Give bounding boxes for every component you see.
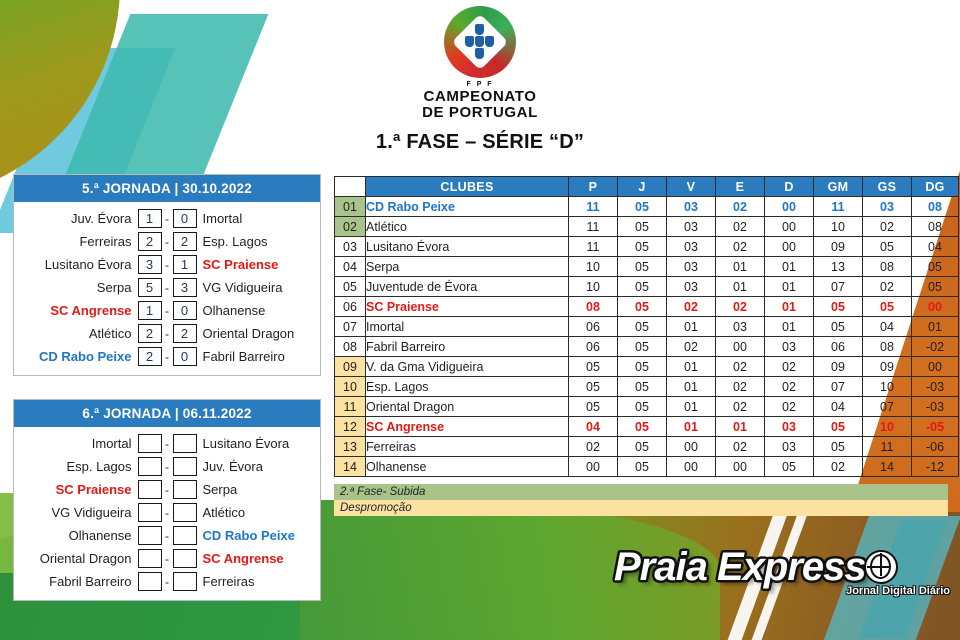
fixture-away-team: Esp. Lagos xyxy=(197,234,311,249)
standings-cell-gs: 10 xyxy=(863,377,912,397)
standings-cell-gs: 02 xyxy=(863,217,912,237)
fixture-away-score[interactable]: 0 xyxy=(173,209,197,228)
fpf-crest-icon xyxy=(444,6,516,78)
standings-position: 09 xyxy=(335,357,366,377)
standings-row: 01CD Rabo Peixe1105030200110308 xyxy=(335,197,959,217)
standings-col-d: D xyxy=(765,177,814,197)
standings-position: 02 xyxy=(335,217,366,237)
standings-position: 07 xyxy=(335,317,366,337)
score-separator: - xyxy=(162,258,173,272)
standings-cell-j: 05 xyxy=(618,197,667,217)
fixtures-title-jornada-6: 6.ª JORNADA | 06.11.2022 xyxy=(14,400,320,427)
standings-cell-gm: 07 xyxy=(814,277,863,297)
standings-cell-gm: 07 xyxy=(814,377,863,397)
standings-cell-e: 01 xyxy=(716,417,765,437)
score-separator: - xyxy=(162,506,173,520)
score-separator: - xyxy=(162,460,173,474)
standings-cell-j: 05 xyxy=(618,397,667,417)
standings-cell-gm: 05 xyxy=(814,417,863,437)
standings-cell-d: 01 xyxy=(765,277,814,297)
standings-cell-gs: 05 xyxy=(863,237,912,257)
standings-cell-p: 00 xyxy=(569,457,618,477)
standings-head: CLUBESPJVEDGMGSDG xyxy=(335,177,959,197)
fixture-home-score[interactable]: 3 xyxy=(138,255,162,274)
fixture-home-team: Serpa xyxy=(24,280,138,295)
legend-promotion: 2.ª Fase- Subida xyxy=(334,484,948,500)
standings-position: 08 xyxy=(335,337,366,357)
standings-cell-j: 05 xyxy=(618,277,667,297)
standings-cell-gm: 09 xyxy=(814,237,863,257)
fixture-home-score[interactable] xyxy=(138,572,162,591)
praia-express-logo: Praia Express Jornal Digital Diário xyxy=(614,545,954,615)
standings-table: CLUBESPJVEDGMGSDG 01CD Rabo Peixe1105030… xyxy=(334,176,959,477)
standings-cell-v: 01 xyxy=(667,417,716,437)
fixture-row: Ferreiras2-2Esp. Lagos xyxy=(24,230,310,253)
standings-cell-dg: 00 xyxy=(912,297,959,317)
fixture-home-score[interactable]: 2 xyxy=(138,232,162,251)
standings-row: 10Esp. Lagos05050102020710-03 xyxy=(335,377,959,397)
standings-cell-v: 03 xyxy=(667,257,716,277)
fixture-home-score[interactable] xyxy=(138,434,162,453)
fixture-row: Juv. Évora1-0Imortal xyxy=(24,207,310,230)
brand-name-text: Praia Express xyxy=(614,545,866,589)
poster-canvas: F P F CAMPEONATO DE PORTUGAL 1.ª FASE – … xyxy=(0,0,960,640)
standings-row: 03Lusitano Évora1105030200090504 xyxy=(335,237,959,257)
standings-club-name: CD Rabo Peixe xyxy=(366,197,569,217)
standings-col-v: V xyxy=(667,177,716,197)
standings-cell-v: 00 xyxy=(667,457,716,477)
standings-row: 14Olhanense00050000050214-12 xyxy=(335,457,959,477)
standings-cell-v: 02 xyxy=(667,297,716,317)
standings-club-name: Juventude de Évora xyxy=(366,277,569,297)
standings-cell-gm: 05 xyxy=(814,437,863,457)
standings-cell-e: 00 xyxy=(716,337,765,357)
fixtures-title-jornada-5: 5.ª JORNADA | 30.10.2022 xyxy=(14,175,320,202)
standings-cell-j: 05 xyxy=(618,437,667,457)
standings-club-name: V. da Gma Vidigueira xyxy=(366,357,569,377)
standings-cell-gs: 11 xyxy=(863,437,912,457)
fixture-row: Imortal-Lusitano Évora xyxy=(24,432,310,455)
standings-cell-v: 01 xyxy=(667,357,716,377)
standings-cell-dg: 01 xyxy=(912,317,959,337)
fixture-home-team: Olhanense xyxy=(24,528,138,543)
standings-club-name: Ferreiras xyxy=(366,437,569,457)
standings-position: 12 xyxy=(335,417,366,437)
standings-position: 11 xyxy=(335,397,366,417)
standings-club-name: Esp. Lagos xyxy=(366,377,569,397)
fixture-home-score[interactable] xyxy=(138,457,162,476)
standings-cell-j: 05 xyxy=(618,357,667,377)
standings-cell-d: 01 xyxy=(765,257,814,277)
standings-cell-dg: 04 xyxy=(912,237,959,257)
fixture-away-score[interactable]: 1 xyxy=(173,255,197,274)
fixture-home-score[interactable] xyxy=(138,480,162,499)
standings-cell-d: 02 xyxy=(765,377,814,397)
standings-cell-dg: -05 xyxy=(912,417,959,437)
standings-cell-gs: 10 xyxy=(863,417,912,437)
fixture-away-score[interactable] xyxy=(173,549,197,568)
fixtures-list-jornada-6: Imortal-Lusitano ÉvoraEsp. Lagos-Juv. Év… xyxy=(14,427,320,600)
standings-col-dg: DG xyxy=(912,177,959,197)
standings-cell-gm: 05 xyxy=(814,317,863,337)
fixture-row: SC Angrense1-0Olhanense xyxy=(24,299,310,322)
fixture-home-score[interactable]: 1 xyxy=(138,209,162,228)
portugal-shields-icon xyxy=(462,24,498,60)
fixture-away-score[interactable]: 3 xyxy=(173,278,197,297)
championship-line-2: DE PORTUGAL xyxy=(0,105,960,121)
fixture-home-score[interactable] xyxy=(138,549,162,568)
standings-cell-dg: 00 xyxy=(912,357,959,377)
standings-cell-p: 06 xyxy=(569,317,618,337)
standings-cell-d: 03 xyxy=(765,417,814,437)
fixture-away-score[interactable] xyxy=(173,480,197,499)
standings-cell-d: 00 xyxy=(765,237,814,257)
standings-row: 09V. da Gma Vidigueira0505010202090900 xyxy=(335,357,959,377)
standings-cell-e: 01 xyxy=(716,257,765,277)
brand-name: Praia Express xyxy=(614,545,954,589)
standings-cell-p: 11 xyxy=(569,237,618,257)
standings-club-name: Fabril Barreiro xyxy=(366,337,569,357)
standings-cell-d: 02 xyxy=(765,397,814,417)
standings-col-p: P xyxy=(569,177,618,197)
standings-cell-gm: 11 xyxy=(814,197,863,217)
standings-club-name: Oriental Dragon xyxy=(366,397,569,417)
standings-position: 01 xyxy=(335,197,366,217)
standings-cell-p: 10 xyxy=(569,257,618,277)
fixture-away-score[interactable]: 2 xyxy=(173,324,197,343)
fixture-away-score[interactable] xyxy=(173,526,197,545)
standings-cell-v: 03 xyxy=(667,197,716,217)
championship-line-1: CAMPEONATO xyxy=(0,89,960,105)
standings-row: 06SC Praiense0805020201050500 xyxy=(335,297,959,317)
page-title: 1.ª FASE – SÉRIE “D” xyxy=(0,131,960,154)
score-separator: - xyxy=(162,437,173,451)
standings-cell-gs: 02 xyxy=(863,277,912,297)
standings-row: 11Oriental Dragon05050102020407-03 xyxy=(335,397,959,417)
standings-table-wrapper: CLUBESPJVEDGMGSDG 01CD Rabo Peixe1105030… xyxy=(334,176,948,477)
fixture-row: Serpa5-3VG Vidigueira xyxy=(24,276,310,299)
standings-cell-gs: 08 xyxy=(863,337,912,357)
fixture-away-team: Serpa xyxy=(197,482,311,497)
standings-position: 10 xyxy=(335,377,366,397)
fixture-home-team: CD Rabo Peixe xyxy=(24,349,138,364)
poster-header: F P F CAMPEONATO DE PORTUGAL 1.ª FASE – … xyxy=(0,0,960,154)
standings-cell-d: 02 xyxy=(765,357,814,377)
fixtures-panel-jornada-5: 5.ª JORNADA | 30.10.2022 Juv. Évora1-0Im… xyxy=(13,174,321,376)
standings-col-gs: GS xyxy=(863,177,912,197)
standings-cell-gm: 10 xyxy=(814,217,863,237)
standings-col-e: E xyxy=(716,177,765,197)
standings-row: 04Serpa1005030101130805 xyxy=(335,257,959,277)
standings-cell-gm: 13 xyxy=(814,257,863,277)
standings-body: 01CD Rabo Peixe110503020011030802Atlétic… xyxy=(335,197,959,477)
standings-cell-dg: 08 xyxy=(912,197,959,217)
fixture-home-score[interactable] xyxy=(138,526,162,545)
standings-cell-gs: 14 xyxy=(863,457,912,477)
standings-cell-e: 03 xyxy=(716,317,765,337)
standings-cell-j: 05 xyxy=(618,317,667,337)
standings-cell-d: 00 xyxy=(765,197,814,217)
globe-icon xyxy=(864,550,898,584)
fixture-away-team: Juv. Évora xyxy=(197,459,311,474)
fixture-away-score[interactable] xyxy=(173,572,197,591)
standings-cell-v: 03 xyxy=(667,237,716,257)
standings-cell-dg: 08 xyxy=(912,217,959,237)
standings-col-clubes: CLUBES xyxy=(366,177,569,197)
standings-cell-dg: 05 xyxy=(912,277,959,297)
score-separator: - xyxy=(162,529,173,543)
fixture-away-team: Ferreiras xyxy=(197,574,311,589)
fixture-away-score[interactable]: 0 xyxy=(173,301,197,320)
score-separator: - xyxy=(162,483,173,497)
standings-cell-gm: 04 xyxy=(814,397,863,417)
fixture-home-score[interactable]: 5 xyxy=(138,278,162,297)
standings-cell-e: 02 xyxy=(716,197,765,217)
fixture-away-team: SC Angrense xyxy=(197,551,311,566)
score-separator: - xyxy=(162,350,173,364)
standings-cell-gm: 09 xyxy=(814,357,863,377)
standings-cell-gs: 08 xyxy=(863,257,912,277)
fixture-away-team: Oriental Dragon xyxy=(197,326,311,341)
score-separator: - xyxy=(162,327,173,341)
standings-row: 02Atlético1105030200100208 xyxy=(335,217,959,237)
fixture-home-team: Atlético xyxy=(24,326,138,341)
standings-cell-v: 00 xyxy=(667,437,716,457)
fixture-home-team: Juv. Évora xyxy=(24,211,138,226)
standings-col-gm: GM xyxy=(814,177,863,197)
standings-position: 06 xyxy=(335,297,366,317)
fixtures-panel-jornada-6: 6.ª JORNADA | 06.11.2022 Imortal-Lusitan… xyxy=(13,399,321,601)
fixture-row: Oriental Dragon-SC Angrense xyxy=(24,547,310,570)
standings-cell-d: 05 xyxy=(765,457,814,477)
standings-cell-dg: -03 xyxy=(912,397,959,417)
standings-cell-dg: -06 xyxy=(912,437,959,457)
fixture-row: SC Praiense-Serpa xyxy=(24,478,310,501)
fixture-row: VG Vidigueira-Atlético xyxy=(24,501,310,524)
standings-cell-d: 03 xyxy=(765,337,814,357)
fixture-home-team: SC Praiense xyxy=(24,482,138,497)
standings-cell-p: 05 xyxy=(569,397,618,417)
standings-cell-e: 02 xyxy=(716,377,765,397)
standings-cell-gm: 02 xyxy=(814,457,863,477)
fixture-away-team: VG Vidigueira xyxy=(197,280,311,295)
standings-club-name: Serpa xyxy=(366,257,569,277)
standings-club-name: Olhanense xyxy=(366,457,569,477)
standings-cell-e: 02 xyxy=(716,397,765,417)
fixture-away-team: CD Rabo Peixe xyxy=(197,528,311,543)
standings-cell-e: 02 xyxy=(716,437,765,457)
standings-cell-e: 00 xyxy=(716,457,765,477)
standings-position: 13 xyxy=(335,437,366,457)
standings-cell-j: 05 xyxy=(618,297,667,317)
standings-club-name: SC Praiense xyxy=(366,297,569,317)
standings-cell-j: 05 xyxy=(618,377,667,397)
standings-cell-d: 01 xyxy=(765,317,814,337)
standings-cell-v: 03 xyxy=(667,217,716,237)
standings-row: 13Ferreiras02050002030511-06 xyxy=(335,437,959,457)
standings-position: 04 xyxy=(335,257,366,277)
standings-cell-p: 04 xyxy=(569,417,618,437)
standings-col-j: J xyxy=(618,177,667,197)
fixture-away-team: Fabril Barreiro xyxy=(197,349,311,364)
standings-cell-p: 11 xyxy=(569,197,618,217)
fixture-row: Lusitano Évora3-1SC Praiense xyxy=(24,253,310,276)
standings-row: 05Juventude de Évora1005030101070205 xyxy=(335,277,959,297)
fixture-away-score[interactable]: 0 xyxy=(173,347,197,366)
standings-cell-j: 05 xyxy=(618,337,667,357)
standings-cell-d: 00 xyxy=(765,217,814,237)
standings-cell-dg: -02 xyxy=(912,337,959,357)
score-separator: - xyxy=(162,552,173,566)
standings-cell-gs: 05 xyxy=(863,297,912,317)
fixture-home-team: SC Angrense xyxy=(24,303,138,318)
fixture-home-team: Esp. Lagos xyxy=(24,459,138,474)
legend: 2.ª Fase- Subida Despromoção xyxy=(334,484,948,516)
standings-row: 07Imortal0605010301050401 xyxy=(335,317,959,337)
fixtures-list-jornada-5: Juv. Évora1-0ImortalFerreiras2-2Esp. Lag… xyxy=(14,202,320,375)
standings-cell-gs: 09 xyxy=(863,357,912,377)
standings-cell-p: 08 xyxy=(569,297,618,317)
standings-cell-gm: 05 xyxy=(814,297,863,317)
fixture-away-team: Lusitano Évora xyxy=(197,436,311,451)
standings-cell-v: 02 xyxy=(667,337,716,357)
standings-cell-v: 01 xyxy=(667,377,716,397)
standings-position: 14 xyxy=(335,457,366,477)
standings-position: 03 xyxy=(335,237,366,257)
fixture-away-score[interactable] xyxy=(173,457,197,476)
score-separator: - xyxy=(162,212,173,226)
standings-cell-e: 02 xyxy=(716,297,765,317)
score-separator: - xyxy=(162,304,173,318)
standings-club-name: Atlético xyxy=(366,217,569,237)
standings-cell-j: 05 xyxy=(618,257,667,277)
fixture-row: Olhanense-CD Rabo Peixe xyxy=(24,524,310,547)
standings-cell-p: 10 xyxy=(569,277,618,297)
standings-cell-j: 05 xyxy=(618,237,667,257)
standings-cell-p: 02 xyxy=(569,437,618,457)
fixture-home-score[interactable] xyxy=(138,503,162,522)
standings-row: 12SC Angrense04050101030510-05 xyxy=(335,417,959,437)
standings-cell-p: 06 xyxy=(569,337,618,357)
standings-position: 05 xyxy=(335,277,366,297)
fixture-away-team: SC Praiense xyxy=(197,257,311,272)
fixture-away-score[interactable]: 2 xyxy=(173,232,197,251)
standings-cell-v: 03 xyxy=(667,277,716,297)
standings-cell-e: 02 xyxy=(716,357,765,377)
standings-cell-v: 01 xyxy=(667,397,716,417)
standings-cell-v: 01 xyxy=(667,317,716,337)
standings-cell-d: 03 xyxy=(765,437,814,457)
fixture-home-team: VG Vidigueira xyxy=(24,505,138,520)
score-separator: - xyxy=(162,281,173,295)
fixture-home-team: Fabril Barreiro xyxy=(24,574,138,589)
standings-cell-e: 01 xyxy=(716,277,765,297)
standings-cell-dg: 05 xyxy=(912,257,959,277)
standings-cell-gs: 07 xyxy=(863,397,912,417)
standings-position-header xyxy=(335,177,366,197)
standings-club-name: Lusitano Évora xyxy=(366,237,569,257)
standings-cell-p: 05 xyxy=(569,357,618,377)
standings-cell-e: 02 xyxy=(716,237,765,257)
standings-cell-e: 02 xyxy=(716,217,765,237)
standings-cell-gm: 06 xyxy=(814,337,863,357)
fixture-row: Fabril Barreiro-Ferreiras xyxy=(24,570,310,593)
standings-cell-j: 05 xyxy=(618,217,667,237)
standings-cell-p: 11 xyxy=(569,217,618,237)
standings-cell-p: 05 xyxy=(569,377,618,397)
fixture-home-score[interactable]: 2 xyxy=(138,347,162,366)
fixture-row: CD Rabo Peixe2-0Fabril Barreiro xyxy=(24,345,310,368)
standings-cell-d: 01 xyxy=(765,297,814,317)
fixture-home-team: Lusitano Évora xyxy=(24,257,138,272)
standings-cell-j: 05 xyxy=(618,457,667,477)
fixture-home-team: Ferreiras xyxy=(24,234,138,249)
standings-club-name: Imortal xyxy=(366,317,569,337)
fixture-home-score[interactable]: 2 xyxy=(138,324,162,343)
fixture-home-score[interactable]: 1 xyxy=(138,301,162,320)
fixture-home-team: Oriental Dragon xyxy=(24,551,138,566)
fixture-row: Atlético2-2Oriental Dragon xyxy=(24,322,310,345)
standings-cell-dg: -12 xyxy=(912,457,959,477)
fixture-row: Esp. Lagos-Juv. Évora xyxy=(24,455,310,478)
fixture-away-score[interactable] xyxy=(173,503,197,522)
standings-cell-gs: 03 xyxy=(863,197,912,217)
standings-club-name: SC Angrense xyxy=(366,417,569,437)
standings-header-row: CLUBESPJVEDGMGSDG xyxy=(335,177,959,197)
fixture-away-team: Atlético xyxy=(197,505,311,520)
fixture-away-team: Imortal xyxy=(197,211,311,226)
legend-relegation: Despromoção xyxy=(334,500,948,516)
fixture-away-team: Olhanense xyxy=(197,303,311,318)
score-separator: - xyxy=(162,575,173,589)
standings-cell-gs: 04 xyxy=(863,317,912,337)
fixture-away-score[interactable] xyxy=(173,434,197,453)
standings-cell-j: 05 xyxy=(618,417,667,437)
score-separator: - xyxy=(162,235,173,249)
fixture-home-team: Imortal xyxy=(24,436,138,451)
standings-row: 08Fabril Barreiro06050200030608-02 xyxy=(335,337,959,357)
standings-cell-dg: -03 xyxy=(912,377,959,397)
